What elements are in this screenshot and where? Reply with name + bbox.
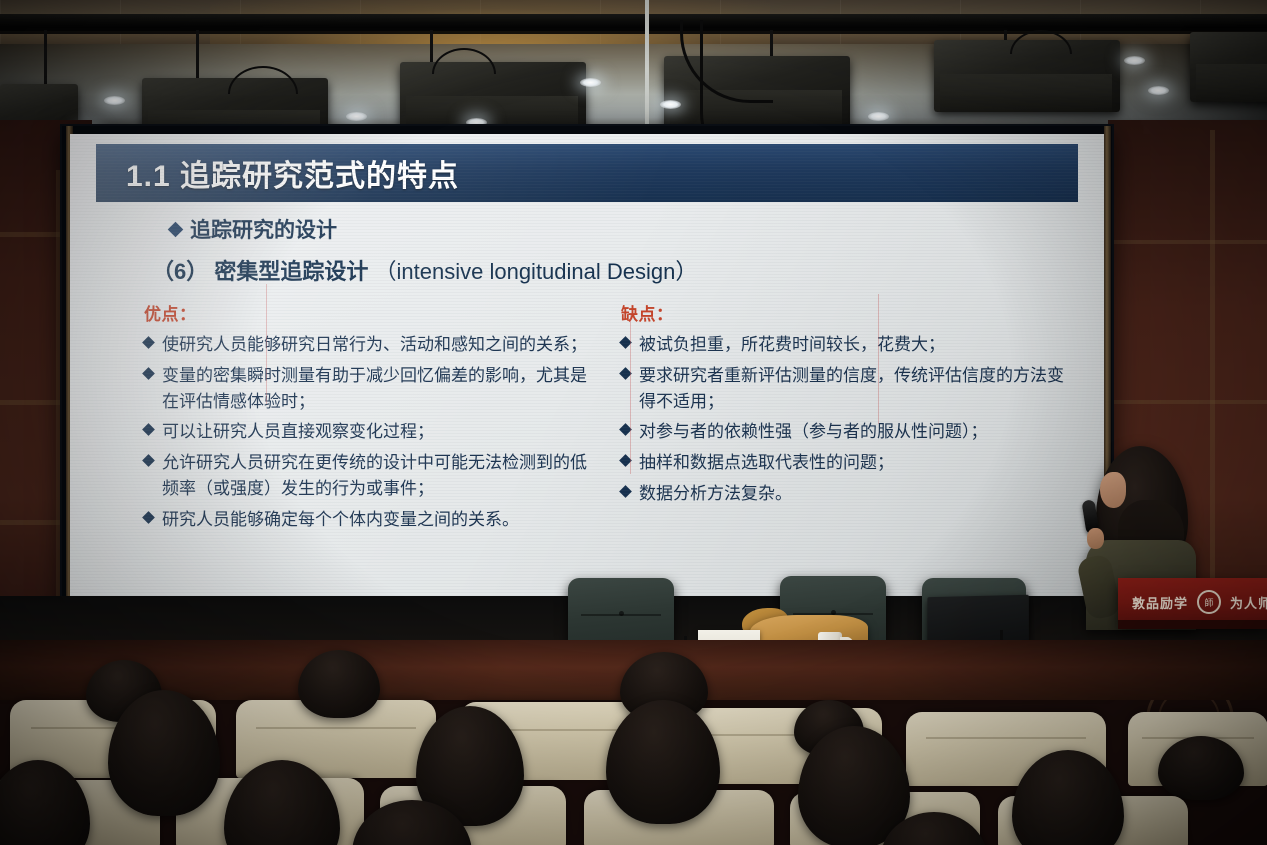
slide-level2-cn: 密集型追踪设计 (214, 259, 368, 284)
stage-light-face (940, 74, 1112, 112)
slide-bullet-text: 允许研究人员研究在更传统的设计中可能无法检测到的低频率（或强度）发生的行为或事件… (162, 450, 597, 502)
university-seal-icon: 師 (1197, 590, 1221, 614)
ceiling-downlight (1124, 56, 1145, 65)
podium-motto-right: 为人师 (1230, 593, 1267, 612)
slide-level1-text: 追踪研究的设计 (190, 214, 337, 244)
slide-title-bar: 1.1 追踪研究范式的特点 (96, 144, 1078, 202)
slide-level1-bullet: 追踪研究的设计 (170, 214, 337, 244)
chair-button (619, 611, 624, 616)
screen-artifact (630, 314, 631, 474)
chair-seam (256, 727, 416, 729)
slide-bullet: 研究人员能够确定每个个体内变量之间的关系。 (144, 507, 597, 533)
slide-bullet-text: 可以让研究人员直接观察变化过程； (162, 419, 597, 445)
screen-artifact (878, 294, 879, 424)
podium-banner: 敦品励学 師 为人师 (1118, 578, 1267, 626)
wall-panel-seam (1108, 400, 1267, 404)
diamond-bullet-icon (142, 336, 155, 349)
slide-bullet-text: 研究人员能够确定每个个体内变量之间的关系。 (162, 507, 597, 533)
slide-bullet: 变量的密集瞬时测量有助于减少回忆偏差的影响，尤其是在评估情感体验时； (144, 363, 597, 415)
slide-two-columns: 优点： 使研究人员能够研究日常行为、活动和感知之间的关系； 变量的密集瞬时测量有… (144, 300, 1074, 538)
chair-button (831, 610, 836, 615)
presentation-slide: 1.1 追踪研究范式的特点 追踪研究的设计 （6） 密集型追踪设计 （inten… (70, 134, 1104, 608)
slide-bullet-text: 变量的密集瞬时测量有助于减少回忆偏差的影响，尤其是在评估情感体验时； (162, 363, 597, 415)
light-stem (44, 30, 47, 86)
podium-shadow (1118, 620, 1267, 629)
slide-level2-en: （intensive longitudinal Design） (375, 259, 698, 284)
slide-bullet: 抽样和数据点选取代表性的问题； (621, 450, 1074, 476)
slide-column-disadvantages: 缺点： 被试负担重，所花费时间较长，花费大； 要求研究者重新评估测量的信度，传统… (621, 300, 1074, 538)
slide-column-advantages: 优点： 使研究人员能够研究日常行为、活动和感知之间的关系； 变量的密集瞬时测量有… (144, 300, 597, 538)
slide-bullet: 要求研究者重新评估测量的信度，传统评估信度的方法变得不适用； (621, 363, 1074, 415)
slide-title: 1.1 追踪研究范式的特点 (96, 151, 459, 195)
ceiling-downlight (868, 112, 889, 121)
diamond-bullet-icon (142, 424, 155, 437)
slide-bullet-text: 抽样和数据点选取代表性的问题； (639, 450, 1074, 476)
wall-panel-seam (1210, 130, 1215, 580)
slide-level2-line: （6） 密集型追踪设计 （intensive longitudinal Desi… (152, 254, 697, 286)
diamond-bullet-icon (142, 367, 155, 380)
ceiling-downlight (580, 78, 601, 87)
slide-bullet: 对参与者的依赖性强（参与者的服从性问题）； (621, 419, 1074, 445)
screen-artifact (266, 284, 267, 404)
podium-motto-left: 敦品励学 (1132, 593, 1188, 612)
ceiling-downlight (104, 96, 125, 105)
slide-bullet: 使研究人员能够研究日常行为、活动和感知之间的关系； (144, 332, 597, 358)
lecture-hall-photo: 1.1 追踪研究范式的特点 追踪研究的设计 （6） 密集型追踪设计 （inten… (0, 0, 1267, 845)
diamond-bullet-icon (142, 511, 155, 524)
slide-bullet: 数据分析方法复杂。 (621, 481, 1074, 507)
ceiling-downlight (660, 100, 681, 109)
slide-level2-number: （6） (152, 259, 208, 284)
slide-bullet-text: 要求研究者重新评估测量的信度，传统评估信度的方法变得不适用； (639, 363, 1074, 415)
ceiling-downlight (1148, 86, 1169, 95)
diamond-bullet-icon (168, 221, 184, 237)
slide-bullet: 可以让研究人员直接观察变化过程； (144, 419, 597, 445)
stage-light-face (1196, 64, 1267, 102)
chair-seam (926, 737, 1086, 739)
diamond-bullet-icon (142, 454, 155, 467)
ceiling-downlight (346, 112, 367, 121)
diamond-bullet-icon (619, 485, 632, 498)
slide-bullet: 允许研究人员研究在更传统的设计中可能无法检测到的低频率（或强度）发生的行为或事件… (144, 450, 597, 502)
slide-bullet-text: 使研究人员能够研究日常行为、活动和感知之间的关系； (162, 332, 597, 358)
slide-bullet: 被试负担重，所花费时间较长，花费大； (621, 332, 1074, 358)
slide-bullet-text: 被试负担重，所花费时间较长，花费大； (639, 332, 1074, 358)
slide-body: 追踪研究的设计 （6） 密集型追踪设计 （intensive longitudi… (96, 202, 1078, 594)
column-heading: 缺点： (621, 300, 1074, 325)
lighting-truss-lower (0, 28, 1267, 34)
slide-bullet-text: 对参与者的依赖性强（参与者的服从性问题）； (639, 419, 1074, 445)
wall-panel-seam (1108, 240, 1267, 244)
speaker-hand (1087, 528, 1104, 549)
column-heading: 优点： (144, 300, 597, 325)
speaker-face (1100, 472, 1126, 508)
projection-screen: 1.1 追踪研究范式的特点 追踪研究的设计 （6） 密集型追踪设计 （inten… (70, 134, 1104, 608)
slide-bullet-text: 数据分析方法复杂。 (639, 481, 1074, 507)
